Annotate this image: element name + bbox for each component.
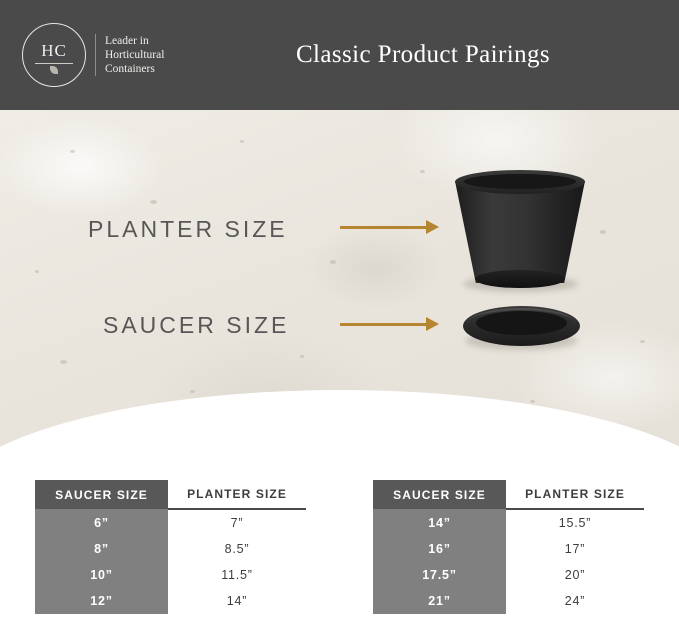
table-row: 12” 14”	[35, 588, 306, 614]
page-header: HC Leader in Horticultural Containers Cl…	[0, 0, 679, 110]
cell-saucer-size: 6”	[35, 509, 168, 536]
cell-planter-size: 14”	[168, 588, 306, 614]
logo-divider	[35, 63, 73, 64]
table-row: 16” 17”	[373, 536, 644, 562]
saucer-arrow-icon	[340, 317, 440, 331]
cell-planter-size: 24”	[506, 588, 644, 614]
logo-tagline-line2: Horticultural	[105, 48, 164, 62]
logo-tagline-line3: Containers	[105, 62, 164, 76]
cell-planter-size: 15.5”	[506, 509, 644, 536]
cell-saucer-size: 10”	[35, 562, 168, 588]
table-row: 10” 11.5”	[35, 562, 306, 588]
logo-tagline: Leader in Horticultural Containers	[95, 34, 164, 76]
size-table-right: SAUCER SIZE PLANTER SIZE 14” 15.5” 16” 1…	[373, 480, 644, 614]
saucer-size-label: SAUCER SIZE	[103, 312, 289, 339]
logo-tagline-line1: Leader in	[105, 34, 164, 48]
table-row: 14” 15.5”	[373, 509, 644, 536]
brand-logo: HC Leader in Horticultural Containers	[22, 23, 207, 87]
cell-planter-size: 11.5”	[168, 562, 306, 588]
leaf-icon	[50, 66, 58, 74]
cell-saucer-size: 14”	[373, 509, 506, 536]
column-header-planter-size: PLANTER SIZE	[168, 480, 306, 509]
page-title: Classic Product Pairings	[207, 41, 679, 69]
cell-planter-size: 20”	[506, 562, 644, 588]
table-row: 6” 7”	[35, 509, 306, 536]
size-table-left: SAUCER SIZE PLANTER SIZE 6” 7” 8” 8.5” 1…	[35, 480, 306, 614]
cell-saucer-size: 8”	[35, 536, 168, 562]
planter-size-label: PLANTER SIZE	[88, 216, 288, 243]
cell-planter-size: 17”	[506, 536, 644, 562]
table-header-row: SAUCER SIZE PLANTER SIZE	[373, 480, 644, 509]
cell-saucer-size: 16”	[373, 536, 506, 562]
size-chart-section: SAUCER SIZE PLANTER SIZE 6” 7” 8” 8.5” 1…	[0, 450, 679, 636]
column-header-saucer-size: SAUCER SIZE	[35, 480, 168, 509]
cell-saucer-size: 12”	[35, 588, 168, 614]
cell-planter-size: 7”	[168, 509, 306, 536]
table-row: 17.5” 20”	[373, 562, 644, 588]
table-row: 21” 24”	[373, 588, 644, 614]
column-header-planter-size: PLANTER SIZE	[506, 480, 644, 509]
cell-planter-size: 8.5”	[168, 536, 306, 562]
saucer-illustration	[463, 306, 580, 356]
planter-arrow-icon	[340, 220, 440, 234]
column-header-saucer-size: SAUCER SIZE	[373, 480, 506, 509]
logo-circle-icon: HC	[22, 23, 86, 87]
table-row: 8” 8.5”	[35, 536, 306, 562]
cell-saucer-size: 17.5”	[373, 562, 506, 588]
planter-illustration	[455, 170, 585, 292]
table-header-row: SAUCER SIZE PLANTER SIZE	[35, 480, 306, 509]
logo-monogram: HC	[23, 41, 85, 61]
hero-section: PLANTER SIZE SAUCER SIZE	[0, 110, 679, 450]
cell-saucer-size: 21”	[373, 588, 506, 614]
